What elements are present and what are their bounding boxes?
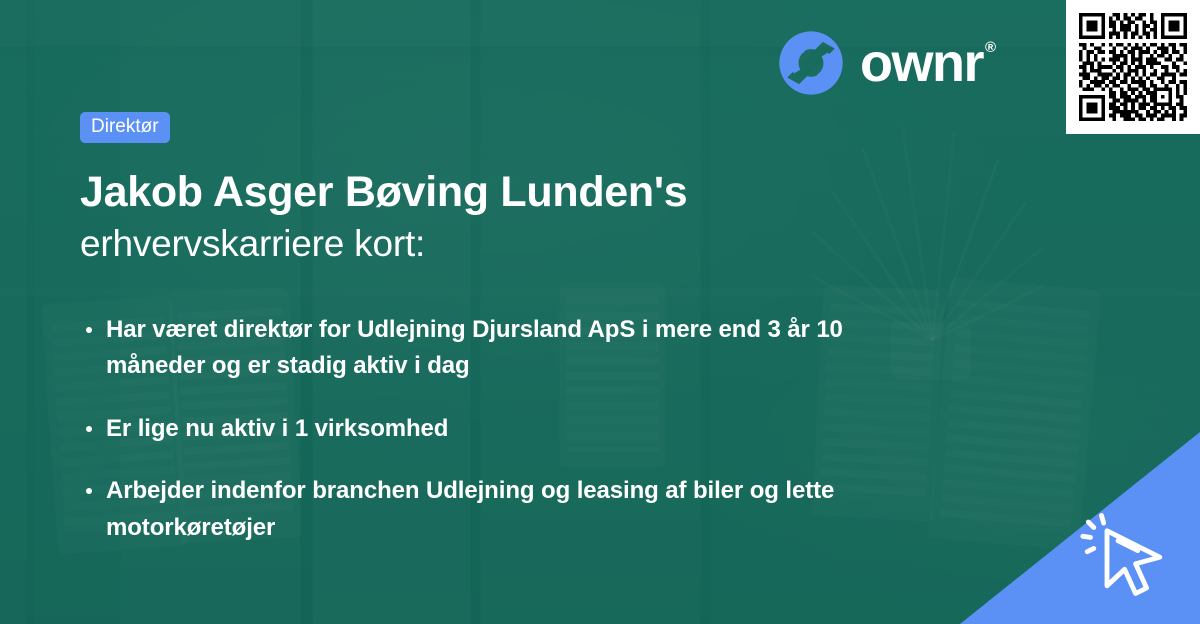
list-item: Arbejder indenfor branchen Udlejning og …: [80, 473, 870, 546]
qr-code[interactable]: [1079, 13, 1187, 121]
registered-trademark-icon: ®: [985, 40, 995, 55]
career-facts-list: Har været direktør for Udlejning Djursla…: [80, 312, 870, 546]
page-subtitle: erhvervskarriere kort:: [80, 222, 880, 266]
list-item: Er lige nu aktiv i 1 virksomhed: [80, 411, 870, 447]
business-card-banner: ownr ® Direktør Jakob Asger Bøving Lunde…: [0, 0, 1200, 624]
headline-block: Direktør Jakob Asger Bøving Lunden's erh…: [80, 112, 880, 266]
ownr-wordmark-text: ownr: [860, 36, 983, 90]
role-badge: Direktør: [80, 112, 170, 143]
click-cursor-icon: [1074, 500, 1184, 610]
qr-code-panel[interactable]: [1066, 0, 1200, 134]
person-name-title: Jakob Asger Bøving Lunden's: [80, 167, 880, 218]
list-item: Har været direktør for Udlejning Djursla…: [80, 312, 870, 385]
ownr-wordmark: ownr ®: [860, 36, 995, 90]
ownr-circle-logo-icon: [778, 30, 844, 96]
ownr-logo[interactable]: ownr ®: [778, 30, 995, 96]
